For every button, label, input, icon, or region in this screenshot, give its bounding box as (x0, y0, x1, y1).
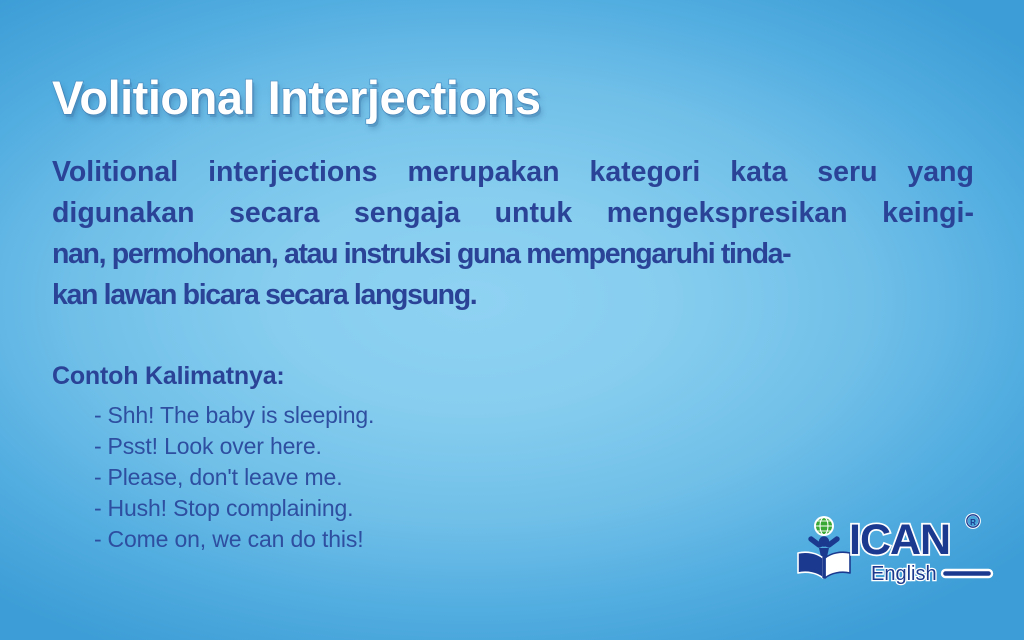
examples-list: -Shh! The baby is sleeping. -Psst! Look … (94, 400, 374, 555)
list-dash: - (94, 402, 102, 428)
logo-wordmark: ICAN R English (847, 512, 995, 588)
list-item-label: Please, don't leave me. (108, 464, 343, 490)
ican-english-logo: ICAN R English (795, 512, 995, 588)
list-dash: - (94, 433, 102, 459)
list-item-label: Hush! Stop complaining. (108, 495, 354, 521)
list-item: -Please, don't leave me. (94, 462, 374, 493)
slide-canvas: Volitional Interjections Volitional inte… (0, 0, 1024, 640)
list-item: -Psst! Look over here. (94, 431, 374, 462)
paragraph-line: Volitional interjections merupakan kateg… (52, 152, 974, 193)
paragraph-word: secara (229, 193, 319, 234)
registered-mark: R (970, 518, 976, 527)
paragraph-word: Volitional (52, 152, 178, 193)
list-dash: - (94, 464, 102, 490)
list-item-label: Shh! The baby is sleeping. (108, 402, 375, 428)
paragraph-word: kategori (589, 152, 700, 193)
paragraph-line: nan, permohonan, atau instruksi guna mem… (52, 234, 974, 275)
paragraph-word: yang (907, 152, 974, 193)
globe-person-book-icon (795, 515, 853, 581)
list-dash: - (94, 495, 102, 521)
body-paragraph: Volitional interjections merupakan kateg… (52, 152, 974, 316)
paragraph-line: digunakan secara sengaja untuk mengekspr… (52, 193, 974, 234)
logo-underline-bar (942, 570, 992, 577)
paragraph-word: keingi- (882, 193, 974, 234)
paragraph-word: mengekspresikan (607, 193, 848, 234)
paragraph-word: seru (817, 152, 877, 193)
page-title: Volitional Interjections (52, 70, 541, 125)
paragraph-word: sengaja (354, 193, 460, 234)
list-item: -Shh! The baby is sleeping. (94, 400, 374, 431)
examples-subheading: Contoh Kalimatnya: (52, 362, 285, 391)
paragraph-word: merupakan (407, 152, 559, 193)
list-item-label: Psst! Look over here. (108, 433, 322, 459)
logo-brand-text: ICAN (849, 516, 950, 564)
paragraph-word: kata (730, 152, 787, 193)
logo-tagline-text: English (871, 563, 937, 585)
paragraph-word: interjections (208, 152, 377, 193)
list-item-label: Come on, we can do this! (108, 526, 364, 552)
paragraph-word: untuk (495, 193, 573, 234)
paragraph-line: kan lawan bicara secara langsung. (52, 275, 974, 316)
list-item: -Hush! Stop complaining. (94, 493, 374, 524)
paragraph-word: digunakan (52, 193, 195, 234)
list-dash: - (94, 526, 102, 552)
list-item: -Come on, we can do this! (94, 524, 374, 555)
